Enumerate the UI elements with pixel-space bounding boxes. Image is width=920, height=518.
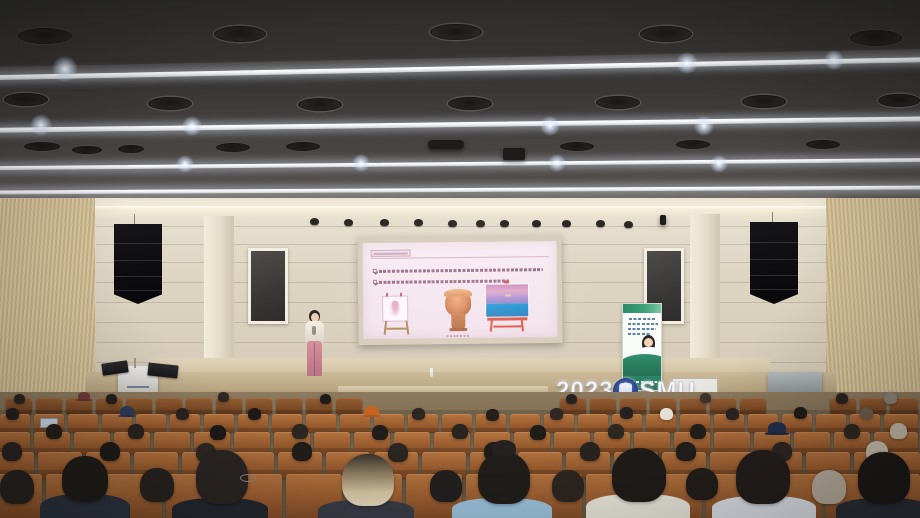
microphone-icon bbox=[312, 326, 316, 335]
audience-head bbox=[550, 408, 563, 420]
slide-image-easel-sketch bbox=[379, 292, 413, 334]
acoustic-panel-right bbox=[826, 198, 920, 403]
stage-column-left bbox=[204, 216, 234, 372]
track-spotlight-icon bbox=[532, 220, 541, 227]
lectern-mic-stand bbox=[134, 358, 136, 368]
clip-icon bbox=[504, 280, 509, 283]
banner-line-3 bbox=[628, 328, 656, 330]
audience-head bbox=[860, 407, 873, 419]
audience-head bbox=[248, 408, 261, 420]
recessed-light-icon bbox=[214, 26, 266, 42]
track-spotlight-icon bbox=[344, 219, 353, 226]
banner-line-1 bbox=[629, 318, 655, 320]
stage-column-right bbox=[690, 214, 720, 374]
bust-hair bbox=[444, 289, 472, 298]
slide-image-classical-bust bbox=[445, 290, 471, 330]
audience-head bbox=[844, 424, 860, 439]
audience-head bbox=[890, 423, 907, 439]
audience-head bbox=[530, 425, 546, 440]
audience-head bbox=[176, 408, 189, 420]
audience-head bbox=[452, 424, 468, 439]
recessed-light-icon bbox=[878, 94, 920, 107]
audience-cap-icon bbox=[78, 392, 90, 400]
lectern-logo bbox=[127, 386, 149, 388]
recessed-light-icon bbox=[298, 98, 342, 111]
ceiling-light-strip bbox=[0, 158, 920, 171]
presenter bbox=[303, 310, 325, 376]
audience-head bbox=[612, 448, 666, 502]
recessed-light-icon bbox=[216, 143, 250, 152]
track-spotlight-icon bbox=[380, 219, 389, 226]
recessed-light-icon bbox=[448, 97, 492, 110]
ceiling-projector bbox=[503, 148, 525, 160]
checkbox-icon bbox=[373, 280, 377, 284]
recessed-light-icon bbox=[806, 140, 840, 149]
recessed-light-icon bbox=[72, 146, 102, 154]
audience-head bbox=[6, 408, 19, 420]
audience-head bbox=[736, 450, 790, 504]
audience-head bbox=[884, 392, 897, 404]
audience-head bbox=[210, 425, 226, 440]
track-spotlight-icon bbox=[476, 220, 485, 227]
clip-icon bbox=[386, 293, 388, 297]
auditorium-photo: 2 0 2 3 S M U bbox=[0, 0, 920, 518]
wall-cove-light bbox=[86, 206, 834, 210]
audience-cap-icon bbox=[364, 406, 379, 416]
recessed-light-icon bbox=[18, 28, 72, 44]
ceiling-light-glow bbox=[182, 116, 202, 136]
audience-head bbox=[46, 424, 62, 439]
audience-head bbox=[552, 470, 584, 502]
track-spotlight-icon bbox=[624, 221, 633, 228]
audience-head bbox=[2, 442, 22, 461]
recessed-light-icon bbox=[850, 30, 902, 46]
ceiling-light-strip bbox=[0, 116, 920, 133]
line-array-speaker-right bbox=[750, 222, 798, 304]
recessed-light-icon bbox=[24, 142, 60, 151]
track-spotlight-icon bbox=[562, 220, 571, 227]
audience-hair-bun bbox=[492, 440, 516, 456]
ceiling-light-glow bbox=[52, 56, 78, 82]
audience-head bbox=[292, 442, 312, 461]
ceiling-light-strip bbox=[0, 185, 920, 194]
audience-head bbox=[412, 408, 425, 420]
bust-base bbox=[449, 328, 467, 332]
slide-title-field bbox=[371, 250, 411, 257]
audience-head bbox=[858, 452, 910, 504]
audience-head bbox=[676, 442, 696, 461]
slide-bullet-1-text bbox=[379, 268, 543, 273]
track-spotlight-icon bbox=[414, 219, 423, 226]
sketch-canvas bbox=[382, 296, 408, 322]
audience-head bbox=[700, 393, 711, 403]
banner-header-band bbox=[623, 304, 661, 313]
line-array-speaker-left bbox=[114, 224, 162, 304]
audience-head bbox=[608, 424, 624, 439]
audience-head bbox=[686, 468, 718, 500]
audience-head bbox=[580, 442, 600, 461]
ceiling-vent bbox=[428, 140, 464, 149]
audience-head bbox=[100, 442, 120, 461]
audience-head bbox=[292, 424, 308, 439]
wall-display-panel-left bbox=[248, 248, 288, 324]
wall-camera-icon bbox=[660, 215, 666, 225]
audience-head bbox=[106, 394, 117, 404]
ceiling-light-glow bbox=[30, 114, 52, 136]
ceiling-light-glow bbox=[824, 50, 844, 70]
track-spotlight-icon bbox=[500, 220, 509, 227]
audience-head bbox=[726, 408, 739, 420]
audience-head bbox=[566, 394, 577, 404]
audience-head bbox=[430, 470, 462, 502]
recessed-light-icon bbox=[640, 26, 692, 42]
audience-head bbox=[836, 393, 848, 404]
recessed-light-icon bbox=[742, 95, 786, 108]
recessed-light-icon bbox=[286, 142, 320, 151]
audience-head bbox=[794, 407, 807, 419]
audience-head bbox=[14, 394, 25, 404]
audience-head bbox=[0, 470, 34, 504]
audience-head bbox=[478, 452, 530, 504]
checkbox-icon bbox=[373, 269, 377, 273]
bust-caption bbox=[447, 335, 471, 337]
eyeglasses-icon bbox=[240, 474, 256, 482]
ceiling-light-glow bbox=[352, 154, 370, 172]
audience-cap-icon bbox=[120, 406, 134, 416]
recessed-light-icon bbox=[676, 140, 710, 149]
recessed-light-icon bbox=[596, 96, 640, 109]
water-bottle bbox=[430, 368, 433, 377]
slide-image-seascape bbox=[483, 279, 536, 332]
audience-head bbox=[388, 443, 408, 462]
audience-head bbox=[128, 424, 144, 439]
track-spotlight-icon bbox=[310, 218, 319, 225]
audience-head bbox=[486, 409, 499, 421]
slide-content bbox=[363, 241, 558, 339]
ceiling-light-glow bbox=[676, 52, 698, 74]
audience-head bbox=[140, 468, 174, 502]
slide-bullet-1 bbox=[373, 267, 545, 273]
seascape-canvas bbox=[485, 283, 529, 317]
audience-head bbox=[690, 424, 706, 439]
ceiling-light-glow bbox=[694, 116, 714, 136]
clip-icon bbox=[400, 293, 402, 297]
audience-head bbox=[372, 425, 388, 440]
audience-head bbox=[620, 407, 633, 419]
banner-line-2 bbox=[628, 323, 658, 325]
recessed-light-icon bbox=[430, 24, 482, 40]
banner-wave-graphic bbox=[622, 354, 662, 376]
audience-head bbox=[62, 456, 108, 502]
recessed-light-icon bbox=[118, 145, 144, 153]
recessed-light-icon bbox=[4, 93, 48, 106]
recessed-light-icon bbox=[148, 97, 192, 110]
audience-head bbox=[812, 470, 846, 504]
ceiling-light-glow bbox=[176, 155, 194, 173]
ceiling bbox=[0, 0, 920, 214]
audience-head bbox=[320, 394, 331, 404]
audience-head bbox=[660, 408, 673, 420]
acoustic-panel-left bbox=[0, 198, 95, 403]
track-spotlight-icon bbox=[448, 220, 457, 227]
track-spotlight-icon bbox=[596, 220, 605, 227]
audience-cap-icon bbox=[768, 422, 786, 434]
ceiling-light-glow bbox=[540, 116, 560, 136]
audience-head bbox=[218, 392, 229, 402]
audience-head bbox=[342, 454, 394, 506]
projection-screen bbox=[357, 235, 562, 345]
ceiling-light-glow bbox=[548, 154, 566, 172]
ceiling-light-glow bbox=[710, 155, 728, 173]
recessed-light-icon bbox=[560, 142, 594, 151]
